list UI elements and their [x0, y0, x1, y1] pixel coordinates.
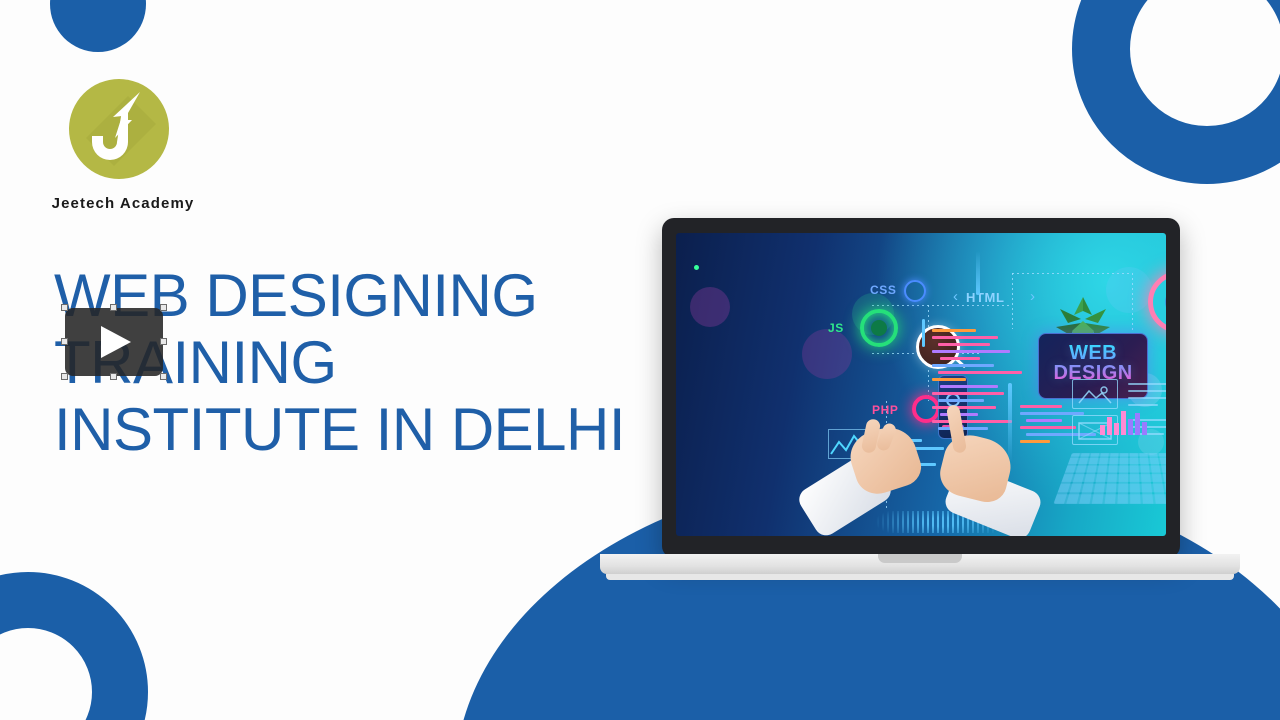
- tag-label-css: CSS: [870, 283, 896, 297]
- php-ring-icon: [912, 395, 940, 423]
- code-line: [932, 420, 1012, 423]
- laptop-screen: CSS JS PHP ‹ HTML ›: [676, 233, 1166, 536]
- code-line: [932, 336, 998, 339]
- wireframe-text-line: [1128, 404, 1158, 406]
- code-line: [940, 385, 998, 388]
- wireframe-text-line: [1128, 397, 1166, 399]
- slide-canvas: Jeetech Academy WEB DESIGNING TRAINING I…: [0, 0, 1280, 720]
- chart-bar: [1114, 423, 1119, 435]
- chevron-left-icon: ‹: [953, 288, 958, 305]
- selection-handle-bottom-left[interactable]: [61, 373, 68, 380]
- connector-line: [1012, 273, 1013, 329]
- chart-bar: [1128, 419, 1133, 435]
- hologram-keyboard: [1053, 453, 1166, 504]
- laptop-base-notch: [878, 554, 962, 563]
- laptop-illustration: CSS JS PHP ‹ HTML ›: [600, 218, 1240, 588]
- bar-chart: [1100, 409, 1152, 435]
- code-line: [938, 343, 990, 346]
- decoration-ring-top-right: [1072, 0, 1280, 184]
- js-ring-core: [871, 320, 887, 336]
- decoration-circle-top-left: [50, 0, 146, 52]
- code-line: [1026, 419, 1062, 422]
- chart-bar: [1100, 425, 1105, 435]
- glow-bar: [922, 319, 925, 347]
- selection-handle-middle-right[interactable]: [160, 338, 167, 345]
- code-line: [938, 371, 1022, 374]
- css-ring-icon: [904, 280, 926, 302]
- code-line: [932, 378, 966, 381]
- card-line-1: WEB: [1069, 342, 1117, 364]
- brand-logo: Jeetech Academy: [48, 76, 248, 212]
- code-line: [938, 399, 984, 402]
- code-line: [932, 364, 994, 367]
- code-line: [1020, 426, 1076, 429]
- decoration-ring-bottom-left: [0, 572, 148, 720]
- code-line: [932, 392, 1004, 395]
- connector-line: [1012, 273, 1132, 274]
- chevron-right-icon: ›: [1030, 288, 1035, 305]
- glow-dot: [694, 265, 699, 270]
- code-line: [1020, 440, 1050, 443]
- selection-handle-top-right[interactable]: [160, 304, 167, 311]
- selection-handle-top-left[interactable]: [61, 304, 68, 311]
- selection-handle-middle-left[interactable]: [61, 338, 68, 345]
- pink-ring-icon: [1148, 271, 1166, 333]
- tag-label-js: JS: [828, 321, 844, 335]
- play-icon[interactable]: [101, 326, 131, 358]
- wireframe-text-line: [1128, 390, 1166, 392]
- code-line: [932, 350, 1010, 353]
- video-play-overlay[interactable]: [65, 308, 163, 376]
- glow-bar: [976, 251, 980, 295]
- code-line: [940, 357, 980, 360]
- chart-bar: [1107, 417, 1112, 435]
- logo-wordmark: Jeetech Academy: [48, 195, 198, 212]
- tag-label-php: PHP: [872, 403, 898, 417]
- jeetech-logo-icon: [66, 76, 172, 182]
- web-design-card-text: WEB DESIGN: [1039, 343, 1147, 384]
- selection-handle-top-middle[interactable]: [110, 304, 117, 311]
- glow-bar: [1008, 383, 1012, 463]
- chart-bar: [1142, 422, 1147, 435]
- wireframe-text-line: [1128, 383, 1166, 385]
- image-placeholder-icon: [1078, 385, 1112, 405]
- laptop-lid: CSS JS PHP ‹ HTML ›: [662, 218, 1180, 558]
- bokeh-blob: [802, 329, 852, 379]
- code-line: [932, 406, 996, 409]
- chart-bar: [1121, 411, 1126, 435]
- selection-handle-bottom-right[interactable]: [160, 373, 167, 380]
- code-line: [932, 329, 976, 332]
- connector-line: [872, 305, 1012, 306]
- laptop-foot: [606, 574, 1234, 580]
- selection-handle-bottom-middle[interactable]: [110, 373, 117, 380]
- code-line: [1020, 405, 1062, 408]
- bokeh-blob: [690, 287, 730, 327]
- tag-label-html: HTML: [966, 290, 1005, 305]
- chart-bar: [1135, 413, 1140, 435]
